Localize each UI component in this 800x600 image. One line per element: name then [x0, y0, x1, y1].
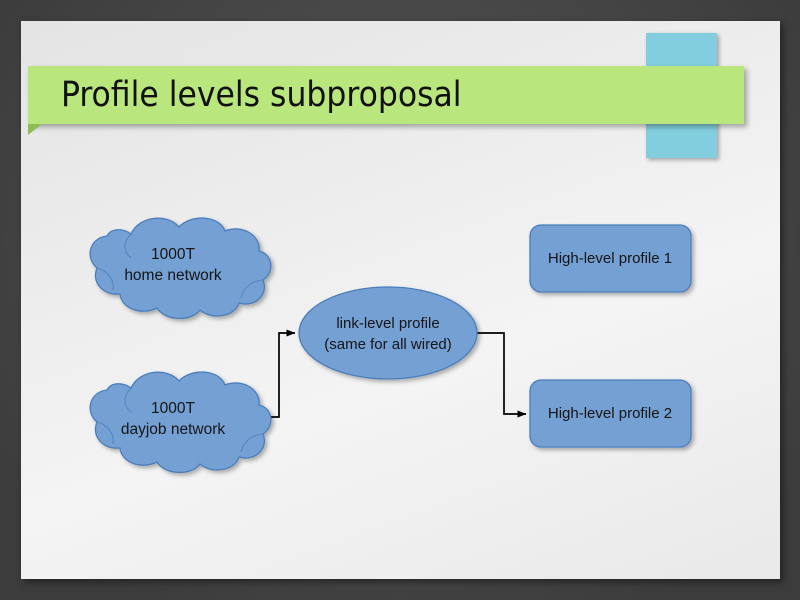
link-level-profile-shape[interactable]	[299, 287, 477, 379]
rect-high-level-profile-2[interactable]: High-level profile 2	[530, 380, 691, 447]
high-level-profile-2-label: High-level profile 2	[548, 405, 672, 422]
title-banner-fold	[28, 124, 42, 135]
high-level-profile-1-label: High-level profile 1	[548, 250, 672, 267]
ellipse-link-level-profile[interactable]: link-level profile (same for all wired)	[299, 287, 477, 379]
cloud-dayjob-network-line-1: 1000T	[151, 400, 195, 417]
link-level-profile-line-1: link-level profile	[336, 315, 439, 332]
slide-canvas[interactable]: Profile levels subproposal	[21, 21, 780, 579]
link-level-profile-line-2: (same for all wired)	[324, 336, 452, 353]
presentation-stage: Profile levels subproposal	[0, 0, 800, 600]
cloud-dayjob-network-line-2: dayjob network	[121, 421, 226, 438]
connector-link-level-to-profile-2	[477, 333, 526, 414]
cloud-dayjob-network[interactable]: 1000T dayjob network	[90, 372, 271, 472]
page-title: Profile levels subproposal	[61, 71, 462, 119]
cloud-home-network-line-2: home network	[124, 267, 222, 284]
cloud-home-network[interactable]: 1000T home network	[90, 218, 271, 318]
rect-high-level-profile-1[interactable]: High-level profile 1	[530, 225, 691, 292]
cloud-home-network-line-1: 1000T	[151, 246, 195, 263]
